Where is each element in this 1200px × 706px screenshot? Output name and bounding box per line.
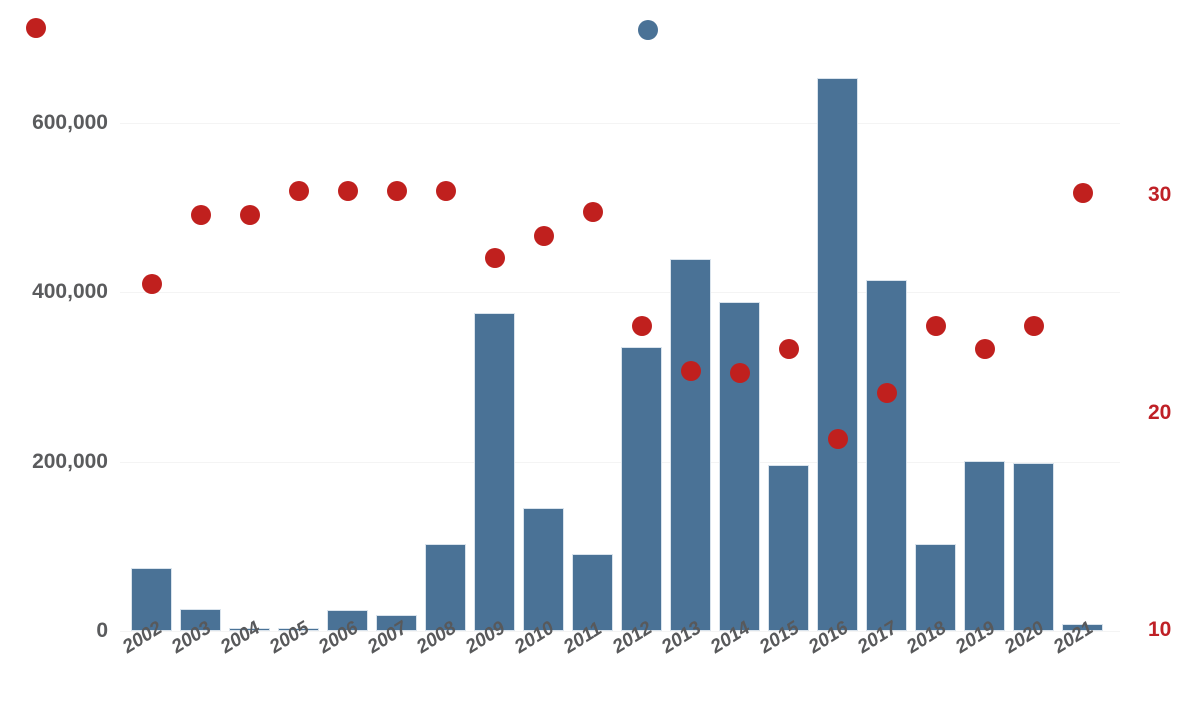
scatter-point-2014[interactable] [730,363,750,383]
gridline [120,123,1120,124]
y-left-tick-label: 0 [96,619,108,643]
y-right-tick-label: 30 [1148,183,1171,207]
y-left-tick-label: 200,000 [32,450,108,474]
scatter-point-2008[interactable] [436,181,456,201]
scatter-point-2007[interactable] [387,181,407,201]
y-right-tick-label: 10 [1148,618,1171,642]
bar-2015[interactable] [768,465,809,631]
bar-2016[interactable] [817,78,858,631]
y-right-tick-label: 20 [1148,401,1171,425]
gridline [120,292,1120,293]
scatter-point-2012[interactable] [632,316,652,336]
bar-2008[interactable] [425,544,466,631]
scatter-point-2017[interactable] [877,383,897,403]
blue-marker-top[interactable] [638,20,658,40]
scatter-point-2003[interactable] [191,205,211,225]
bar-2018[interactable] [915,544,956,631]
scatter-point-2020[interactable] [1024,316,1044,336]
scatter-point-2006[interactable] [338,181,358,201]
scatter-point-2016[interactable] [828,429,848,449]
bar-2020[interactable] [1013,463,1054,631]
scatter-point-2004[interactable] [240,205,260,225]
scatter-point-2015[interactable] [779,339,799,359]
bar-2010[interactable] [523,508,564,631]
scatter-point-2018[interactable] [926,316,946,336]
red-marker-top-left[interactable] [26,18,46,38]
scatter-point-2021[interactable] [1073,183,1093,203]
y-axis-left: 0200,000400,000600,000 [0,0,120,706]
chart-container: 0200,000400,000600,000 102030 2002200320… [0,0,1200,706]
bar-2009[interactable] [474,313,515,631]
y-left-tick-label: 600,000 [32,111,108,135]
scatter-point-2002[interactable] [142,274,162,294]
scatter-point-2010[interactable] [534,226,554,246]
bar-2014[interactable] [719,302,760,631]
bar-2012[interactable] [621,347,662,631]
y-axis-right: 102030 [1130,0,1200,706]
bar-2019[interactable] [964,461,1005,631]
y-left-tick-label: 400,000 [32,280,108,304]
scatter-point-2013[interactable] [681,361,701,381]
plot-area [120,10,1120,631]
scatter-point-2019[interactable] [975,339,995,359]
bar-2013[interactable] [670,259,711,631]
scatter-point-2005[interactable] [289,181,309,201]
scatter-point-2011[interactable] [583,202,603,222]
scatter-point-2009[interactable] [485,248,505,268]
bar-2017[interactable] [866,280,907,631]
